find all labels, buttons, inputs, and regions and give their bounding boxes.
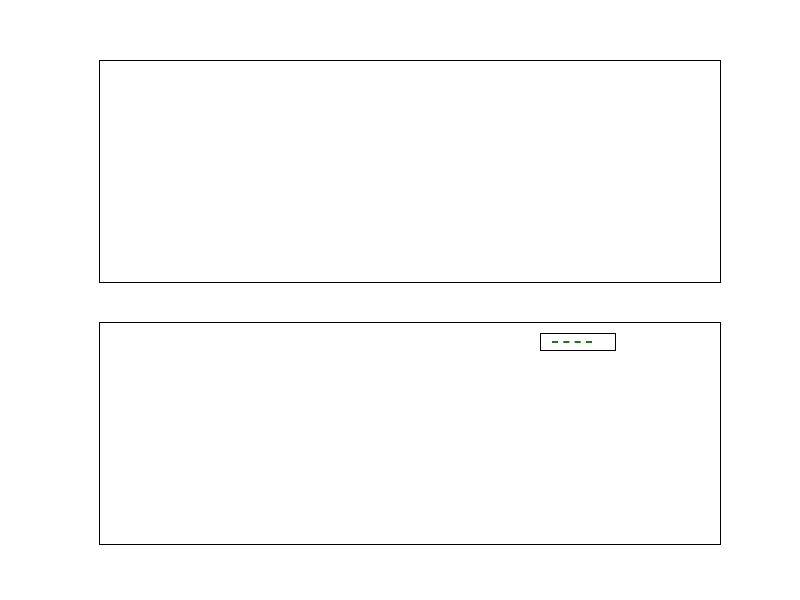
figure (0, 0, 800, 600)
cumulative-histogram-axes (99, 322, 721, 545)
legend-dashed-line-icon (552, 341, 592, 343)
differential-histogram-axes (99, 60, 721, 283)
cumulative-curve-svg (100, 323, 720, 544)
cumulative-histogram-plot-area (100, 323, 720, 544)
differential-histogram-plot-area (100, 61, 720, 282)
legend[interactable] (540, 333, 616, 351)
